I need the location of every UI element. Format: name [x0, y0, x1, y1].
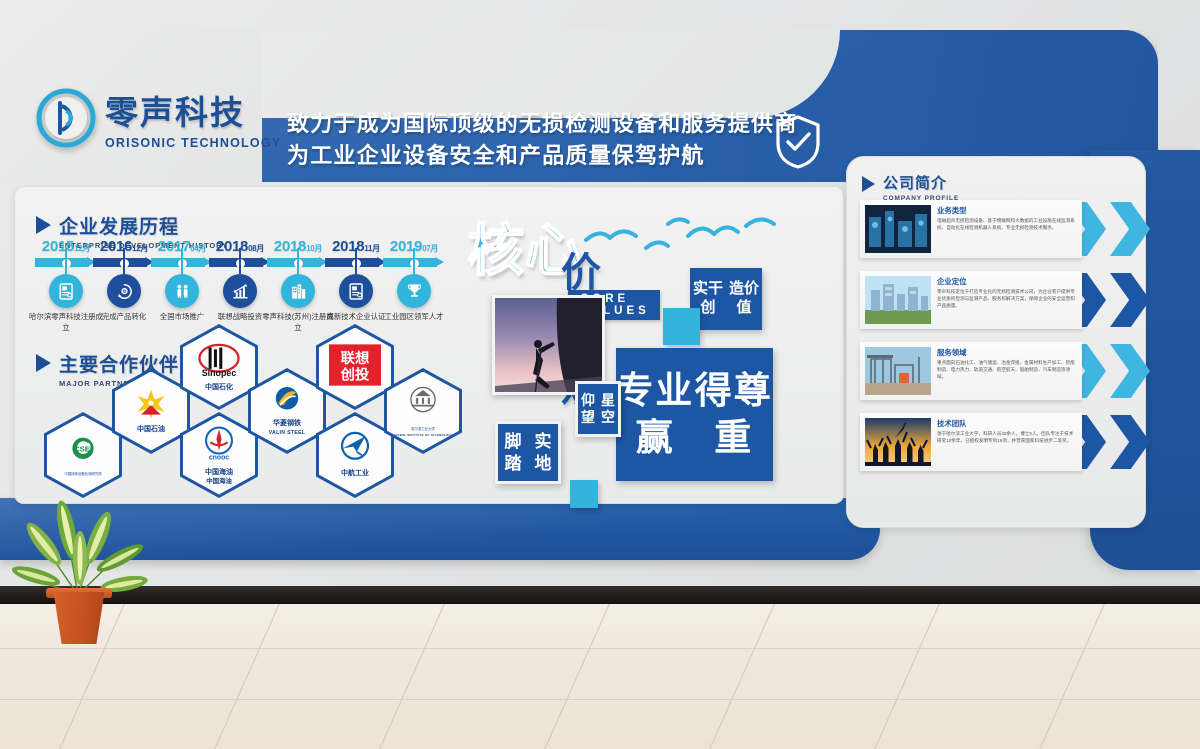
card-title: 技术团队: [937, 418, 1077, 429]
card-description: 零声科技定位于打造专业化的无损检测技术公司，为企业客户提供专业优质的检测与监测产…: [937, 289, 1077, 309]
certificate-icon: [339, 274, 373, 308]
timeline-item: 201810月零声科技(苏州)注册成立: [266, 238, 330, 268]
gear-cycle-icon: [107, 274, 141, 308]
chevron-right-icon: [1110, 273, 1150, 327]
value-box-grounded: 脚踏实地: [495, 421, 561, 484]
sonic-wave-circle-icon: [36, 88, 96, 148]
partner-name-cn-cnooc: 中国海油: [206, 478, 232, 485]
card-title: 服务领域: [937, 347, 1077, 358]
partner-name-cn: 中国海油: [205, 469, 233, 477]
partner-name-cn: 中国特种设备检测研究院: [64, 473, 101, 477]
chevron-right-icon: [1110, 202, 1150, 256]
csei-logo-icon: CSEI: [66, 433, 100, 472]
refinery-plant-photo: [865, 347, 931, 395]
development-timeline: 201512月哈尔滨零声科技注册成立201612月完成产品转化201704月全国…: [34, 238, 454, 343]
people-icon: [165, 274, 199, 308]
sinopec-logo-icon: Sinopec: [195, 342, 243, 383]
timeline-item: 201704月全国市场推广: [150, 238, 214, 268]
building-icon: [281, 274, 315, 308]
lenovo-capital-logo-icon: 联想创投: [329, 344, 381, 391]
timeline-item: 201808月联想战略投资: [208, 238, 272, 268]
card-description: 源于哈尔滨工业大学，科研人员30余人，博士5人。团队专注于技术研究10余年，已授…: [937, 431, 1077, 445]
flying-birds-icon: [578, 210, 808, 270]
value-box-main: 专业赢得尊重: [616, 348, 773, 481]
svg-text:CSEI: CSEI: [74, 445, 92, 454]
company-logo: 零声科技 ORISONIC TECHNOLOGY: [36, 86, 281, 150]
logo-name-cn: 零声科技: [105, 86, 281, 134]
team-silhouette-photo: [865, 418, 931, 466]
culture-wall-scene: 零声科技 ORISONIC TECHNOLOGY 致力于成为国际顶级的无损检测设…: [0, 0, 1200, 749]
svg-text:创投: 创投: [340, 365, 370, 383]
partner-hexagons: CSEI中国特种设备检测研究院中国石油Sinopec中国石化cnooc中国海油中…: [44, 368, 444, 498]
partner-name-cn: 中国石油: [137, 426, 165, 434]
svg-text:cnooc: cnooc: [209, 454, 229, 461]
cnooc-logo-icon: cnooc: [198, 425, 240, 468]
avic-logo-icon: [336, 431, 374, 469]
timeline-item: 201612月完成产品转化: [92, 238, 156, 268]
slogan-line-2: 为工业企业设备安全和产品质量保驾护航: [287, 140, 797, 172]
partner-hexagon: 华菱钢铁VALIN STEEL: [248, 368, 326, 454]
trophy-icon: [397, 274, 431, 308]
partner-hexagon: 中国石油: [112, 368, 190, 454]
petrochina-logo-icon: [131, 388, 171, 425]
hit-logo-icon: [403, 384, 443, 427]
city-skyline-photo: [865, 276, 931, 324]
partner-name-cn: 华菱钢铁: [273, 420, 301, 428]
logo-name-en: ORISONIC TECHNOLOGY: [105, 136, 281, 150]
partner-hexagon: 中航工业: [316, 412, 394, 498]
triangle-right-icon: [36, 216, 51, 234]
timeline-label: 工业园区领军人才: [376, 312, 452, 323]
slogan-line-1: 致力于成为国际顶级的无损检测设备和服务提供商: [287, 108, 797, 140]
profile-card: 技术团队源于哈尔滨工业大学，科研人员30余人，博士5人。团队专注于技术研究10余…: [860, 409, 1160, 475]
shield-check-icon: [775, 115, 821, 169]
partner-name-cn: 哈尔滨工业大学: [411, 428, 435, 432]
tiled-floor: [0, 600, 1200, 749]
triangle-right-icon: [862, 176, 875, 192]
profile-card: 企业定位零声科技定位于打造专业化的无损检测技术公司，为企业客户提供专业优质的检测…: [860, 267, 1160, 333]
profile-card-list: 业务类型电磁超声无损检测设备、基于物联网和大数据的工业设施在线监测系统、自动化在…: [860, 196, 1160, 480]
partner-name-cn: 中国石化: [205, 384, 233, 392]
cyan-accent-square-bottom: [570, 480, 598, 508]
partner-hexagon: CSEI中国特种设备检测研究院: [44, 412, 122, 498]
svg-text:Sinopec: Sinopec: [202, 368, 237, 378]
certificate-icon: [49, 274, 83, 308]
core-values-title: 核心 价值观 CORE VALUES: [468, 206, 582, 287]
card-title: 业务类型: [937, 205, 1077, 216]
header-slogan: 致力于成为国际顶级的无损检测设备和服务提供商 为工业企业设备安全和产品质量保驾护…: [287, 108, 797, 172]
value-box-practical: 实干创造价值: [690, 268, 762, 330]
history-title-cn: 企业发展历程: [59, 212, 228, 239]
rock-climber-photo: [492, 295, 605, 395]
growth-chart-icon: [223, 274, 257, 308]
industrial-equipment-photo: [865, 205, 931, 253]
partner-hexagon: cnooc中国海油中国海油: [180, 412, 258, 498]
timeline-item: 201811月高新技术企业认证: [324, 238, 388, 268]
chevron-right-icon: [1110, 344, 1150, 398]
card-description: 电磁超声无损检测设备、基于物联网和大数据的工业设施在线监测系统、自动化在线检测机…: [937, 218, 1077, 232]
profile-card: 服务领域重点面向石油化工、油气储运、冶金焊接、金属材料生产加工、智能制造、电力热…: [860, 338, 1160, 404]
card-title: 企业定位: [937, 276, 1077, 287]
profile-card: 业务类型电磁超声无损检测设备、基于物联网和大数据的工业设施在线监测系统、自动化在…: [860, 196, 1160, 262]
cyan-accent-square-top: [663, 308, 700, 345]
valin-steel-logo-icon: [268, 386, 306, 419]
timeline-item: 201512月哈尔滨零声科技注册成立: [34, 238, 98, 268]
chevron-right-icon: [1110, 415, 1150, 469]
timeline-item: 201907月工业园区领军人才: [382, 238, 446, 268]
partner-name-en: VALIN STEEL: [269, 430, 306, 436]
profile-title-cn: 公司简介: [883, 172, 959, 193]
value-box-aspire: 仰望星空: [575, 381, 621, 437]
svg-text:联想: 联想: [341, 349, 370, 367]
potted-plant: [10, 500, 150, 645]
partner-name-en: HARBIN INSTITUTE OF TECHNOLOGY: [393, 432, 453, 438]
card-description: 重点面向石油化工、油气储运、冶金焊接、金属材料生产加工、智能制造、电力热力、轨道…: [937, 360, 1077, 380]
partner-name-cn: 中航工业: [341, 470, 369, 478]
